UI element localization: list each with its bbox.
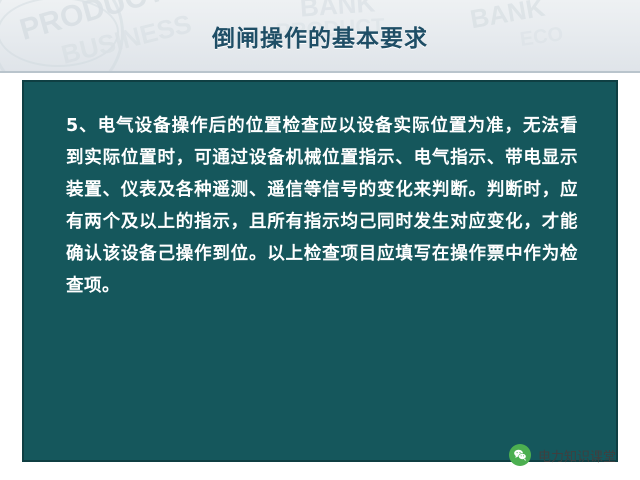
footer-account-name: 电力知识课堂 [538, 446, 616, 465]
footer-account-badge: 电力知识课堂 [509, 444, 616, 466]
wechat-icon [509, 444, 531, 466]
slide-header: PRODUCT BUSINESS BANK PRODUCT BANK ECO 倒… [0, 0, 640, 72]
slide: PRODUCT BUSINESS BANK PRODUCT BANK ECO 倒… [0, 0, 640, 480]
page-title: 倒闸操作的基本要求 [0, 0, 640, 72]
header-divider [0, 71, 640, 73]
content-paragraph: 5、电气设备操作后的位置检查应以设备实际位置为准，无法看到实际位置时，可通过设备… [66, 110, 578, 302]
content-panel: 5、电气设备操作后的位置检查应以设备实际位置为准，无法看到实际位置时，可通过设备… [22, 80, 618, 462]
